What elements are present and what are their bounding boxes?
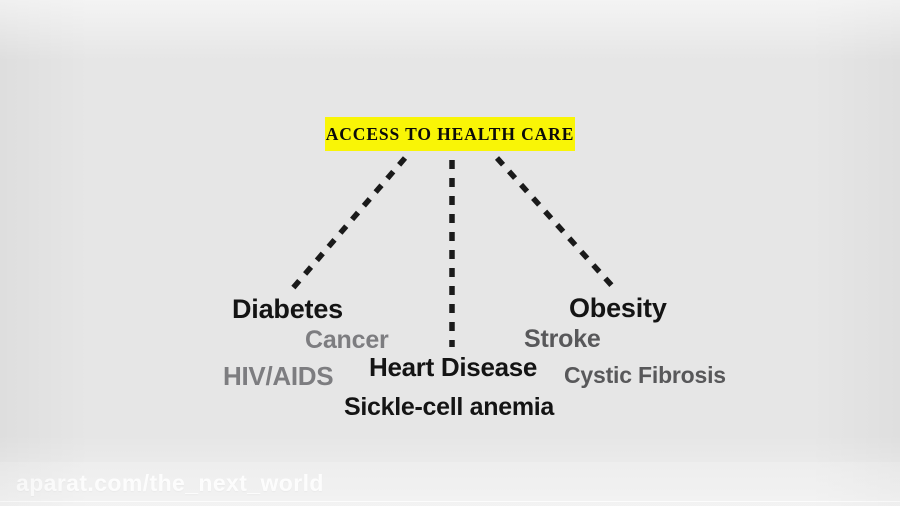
node-obesity: Obesity	[569, 295, 667, 322]
node-stroke: Stroke	[524, 327, 601, 352]
right-branch-line	[497, 158, 614, 288]
node-hiv-aids: HIV/AIDS	[223, 363, 333, 389]
connector-lines	[0, 0, 900, 506]
node-cancer: Cancer	[305, 328, 389, 353]
root-concept-highlight: ACCESS TO HEALTH CARE	[325, 117, 575, 151]
root-concept-label: ACCESS TO HEALTH CARE	[326, 124, 575, 145]
node-sickle-cell-anemia: Sickle-cell anemia	[344, 395, 554, 420]
site-watermark: aparat.com/the_next_world	[16, 470, 324, 497]
node-heart-disease: Heart Disease	[369, 354, 537, 380]
node-diabetes: Diabetes	[232, 296, 343, 323]
diagram-canvas: ACCESS TO HEALTH CARE Diabetes Cancer HI…	[0, 0, 900, 506]
left-branch-line	[293, 158, 405, 288]
bottom-edge-divider	[0, 501, 900, 502]
node-cystic-fibrosis: Cystic Fibrosis	[564, 364, 726, 387]
